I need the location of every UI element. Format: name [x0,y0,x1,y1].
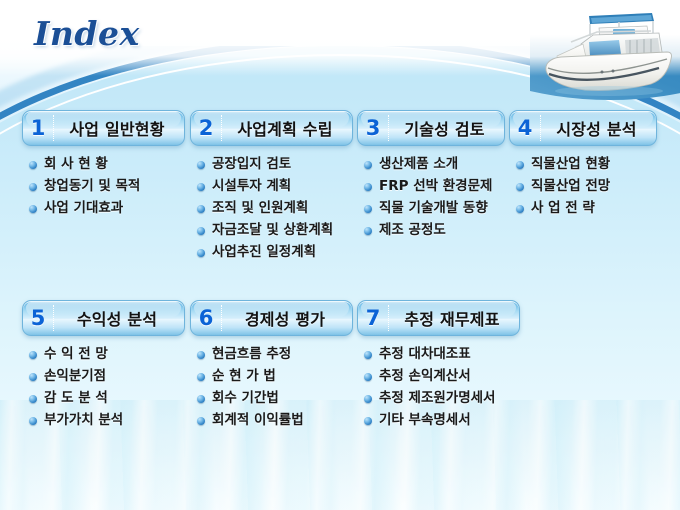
section-header-6[interactable]: 6 경제성 평가 [190,300,353,336]
section-number-1: 1 [23,116,53,140]
section-list-7: 추정 대차대조표 추정 손익계산서 추정 제조원가명세서 기타 부속명세서 [357,345,520,430]
section-title-4: 시장성 분석 [541,116,656,140]
section-header-3[interactable]: 3 기술성 검토 [357,110,505,146]
list-item[interactable]: 감 도 분 석 [28,389,185,408]
list-item[interactable]: 창업동기 및 목적 [28,177,185,196]
section-number-5: 5 [23,306,53,330]
section-column-3: 3 기술성 검토 생산제품 소개 FRP 선박 환경문제 직물 기술개발 동향 … [357,110,505,243]
list-item[interactable]: 조직 및 인원계획 [196,199,353,218]
section-header-1[interactable]: 1 사업 일반현황 [22,110,185,146]
list-item[interactable]: 기타 부속명세서 [363,411,520,430]
section-title-6: 경제성 평가 [222,306,352,330]
section-title-1: 사업 일반현황 [54,116,184,140]
section-title-7: 추정 재무제표 [389,306,519,330]
list-item[interactable]: 사업추진 일정계획 [196,243,353,262]
list-item[interactable]: 직물산업 전망 [515,177,657,196]
section-column-4: 4 시장성 분석 직물산업 현황 직물산업 전망 사 업 전 략 [509,110,657,221]
section-number-2: 2 [191,116,221,140]
section-number-4: 4 [510,116,540,140]
section-column-2: 2 사업계획 수립 공장입지 검토 시설투자 계획 조직 및 인원계획 자금조달… [190,110,353,265]
list-item[interactable]: 시설투자 계획 [196,177,353,196]
section-column-5: 5 수익성 분석 수 익 전 망 손익분기점 감 도 분 석 부가가치 분석 [22,300,185,433]
list-item[interactable]: 추정 제조원가명세서 [363,389,520,408]
list-item[interactable]: 손익분기점 [28,367,185,386]
list-item[interactable]: 자금조달 및 상환계획 [196,221,353,240]
list-item[interactable]: 수 익 전 망 [28,345,185,364]
section-list-1: 회 사 현 황 창업동기 및 목적 사업 기대효과 [22,155,185,218]
section-header-4[interactable]: 4 시장성 분석 [509,110,657,146]
list-item[interactable]: FRP 선박 환경문제 [363,177,505,196]
list-item[interactable]: 사업 기대효과 [28,199,185,218]
list-item[interactable]: 제조 공정도 [363,221,505,240]
section-title-2: 사업계획 수립 [222,116,352,140]
list-item[interactable]: 회 사 현 황 [28,155,185,174]
section-header-7[interactable]: 7 추정 재무제표 [357,300,520,336]
section-column-6: 6 경제성 평가 현금흐름 추정 순 현 가 법 회수 기간법 회계적 이익률법 [190,300,353,433]
list-item[interactable]: 추정 손익계산서 [363,367,520,386]
section-number-7: 7 [358,306,388,330]
list-item[interactable]: 직물 기술개발 동향 [363,199,505,218]
page-title: Index [34,14,140,53]
list-item[interactable]: 회계적 이익률법 [196,411,353,430]
list-item[interactable]: 사 업 전 략 [515,199,657,218]
section-list-3: 생산제품 소개 FRP 선박 환경문제 직물 기술개발 동향 제조 공정도 [357,155,505,240]
section-column-1: 1 사업 일반현황 회 사 현 황 창업동기 및 목적 사업 기대효과 [22,110,185,221]
list-item[interactable]: 공장입지 검토 [196,155,353,174]
section-number-6: 6 [191,306,221,330]
list-item[interactable]: 현금흐름 추정 [196,345,353,364]
section-list-2: 공장입지 검토 시설투자 계획 조직 및 인원계획 자금조달 및 상환계획 사업… [190,155,353,262]
section-column-7: 7 추정 재무제표 추정 대차대조표 추정 손익계산서 추정 제조원가명세서 기… [357,300,520,433]
list-item[interactable]: 부가가치 분석 [28,411,185,430]
list-item[interactable]: 직물산업 현황 [515,155,657,174]
section-number-3: 3 [358,116,388,140]
motor-yacht-icon [527,2,679,102]
section-title-3: 기술성 검토 [389,116,504,140]
list-item[interactable]: 회수 기간법 [196,389,353,408]
section-list-4: 직물산업 현황 직물산업 전망 사 업 전 략 [509,155,657,218]
section-title-5: 수익성 분석 [54,306,184,330]
list-item[interactable]: 순 현 가 법 [196,367,353,386]
section-header-2[interactable]: 2 사업계획 수립 [190,110,353,146]
list-item[interactable]: 생산제품 소개 [363,155,505,174]
list-item[interactable]: 추정 대차대조표 [363,345,520,364]
index-slide: Index [0,0,680,510]
section-header-5[interactable]: 5 수익성 분석 [22,300,185,336]
section-list-6: 현금흐름 추정 순 현 가 법 회수 기간법 회계적 이익률법 [190,345,353,430]
section-list-5: 수 익 전 망 손익분기점 감 도 분 석 부가가치 분석 [22,345,185,430]
